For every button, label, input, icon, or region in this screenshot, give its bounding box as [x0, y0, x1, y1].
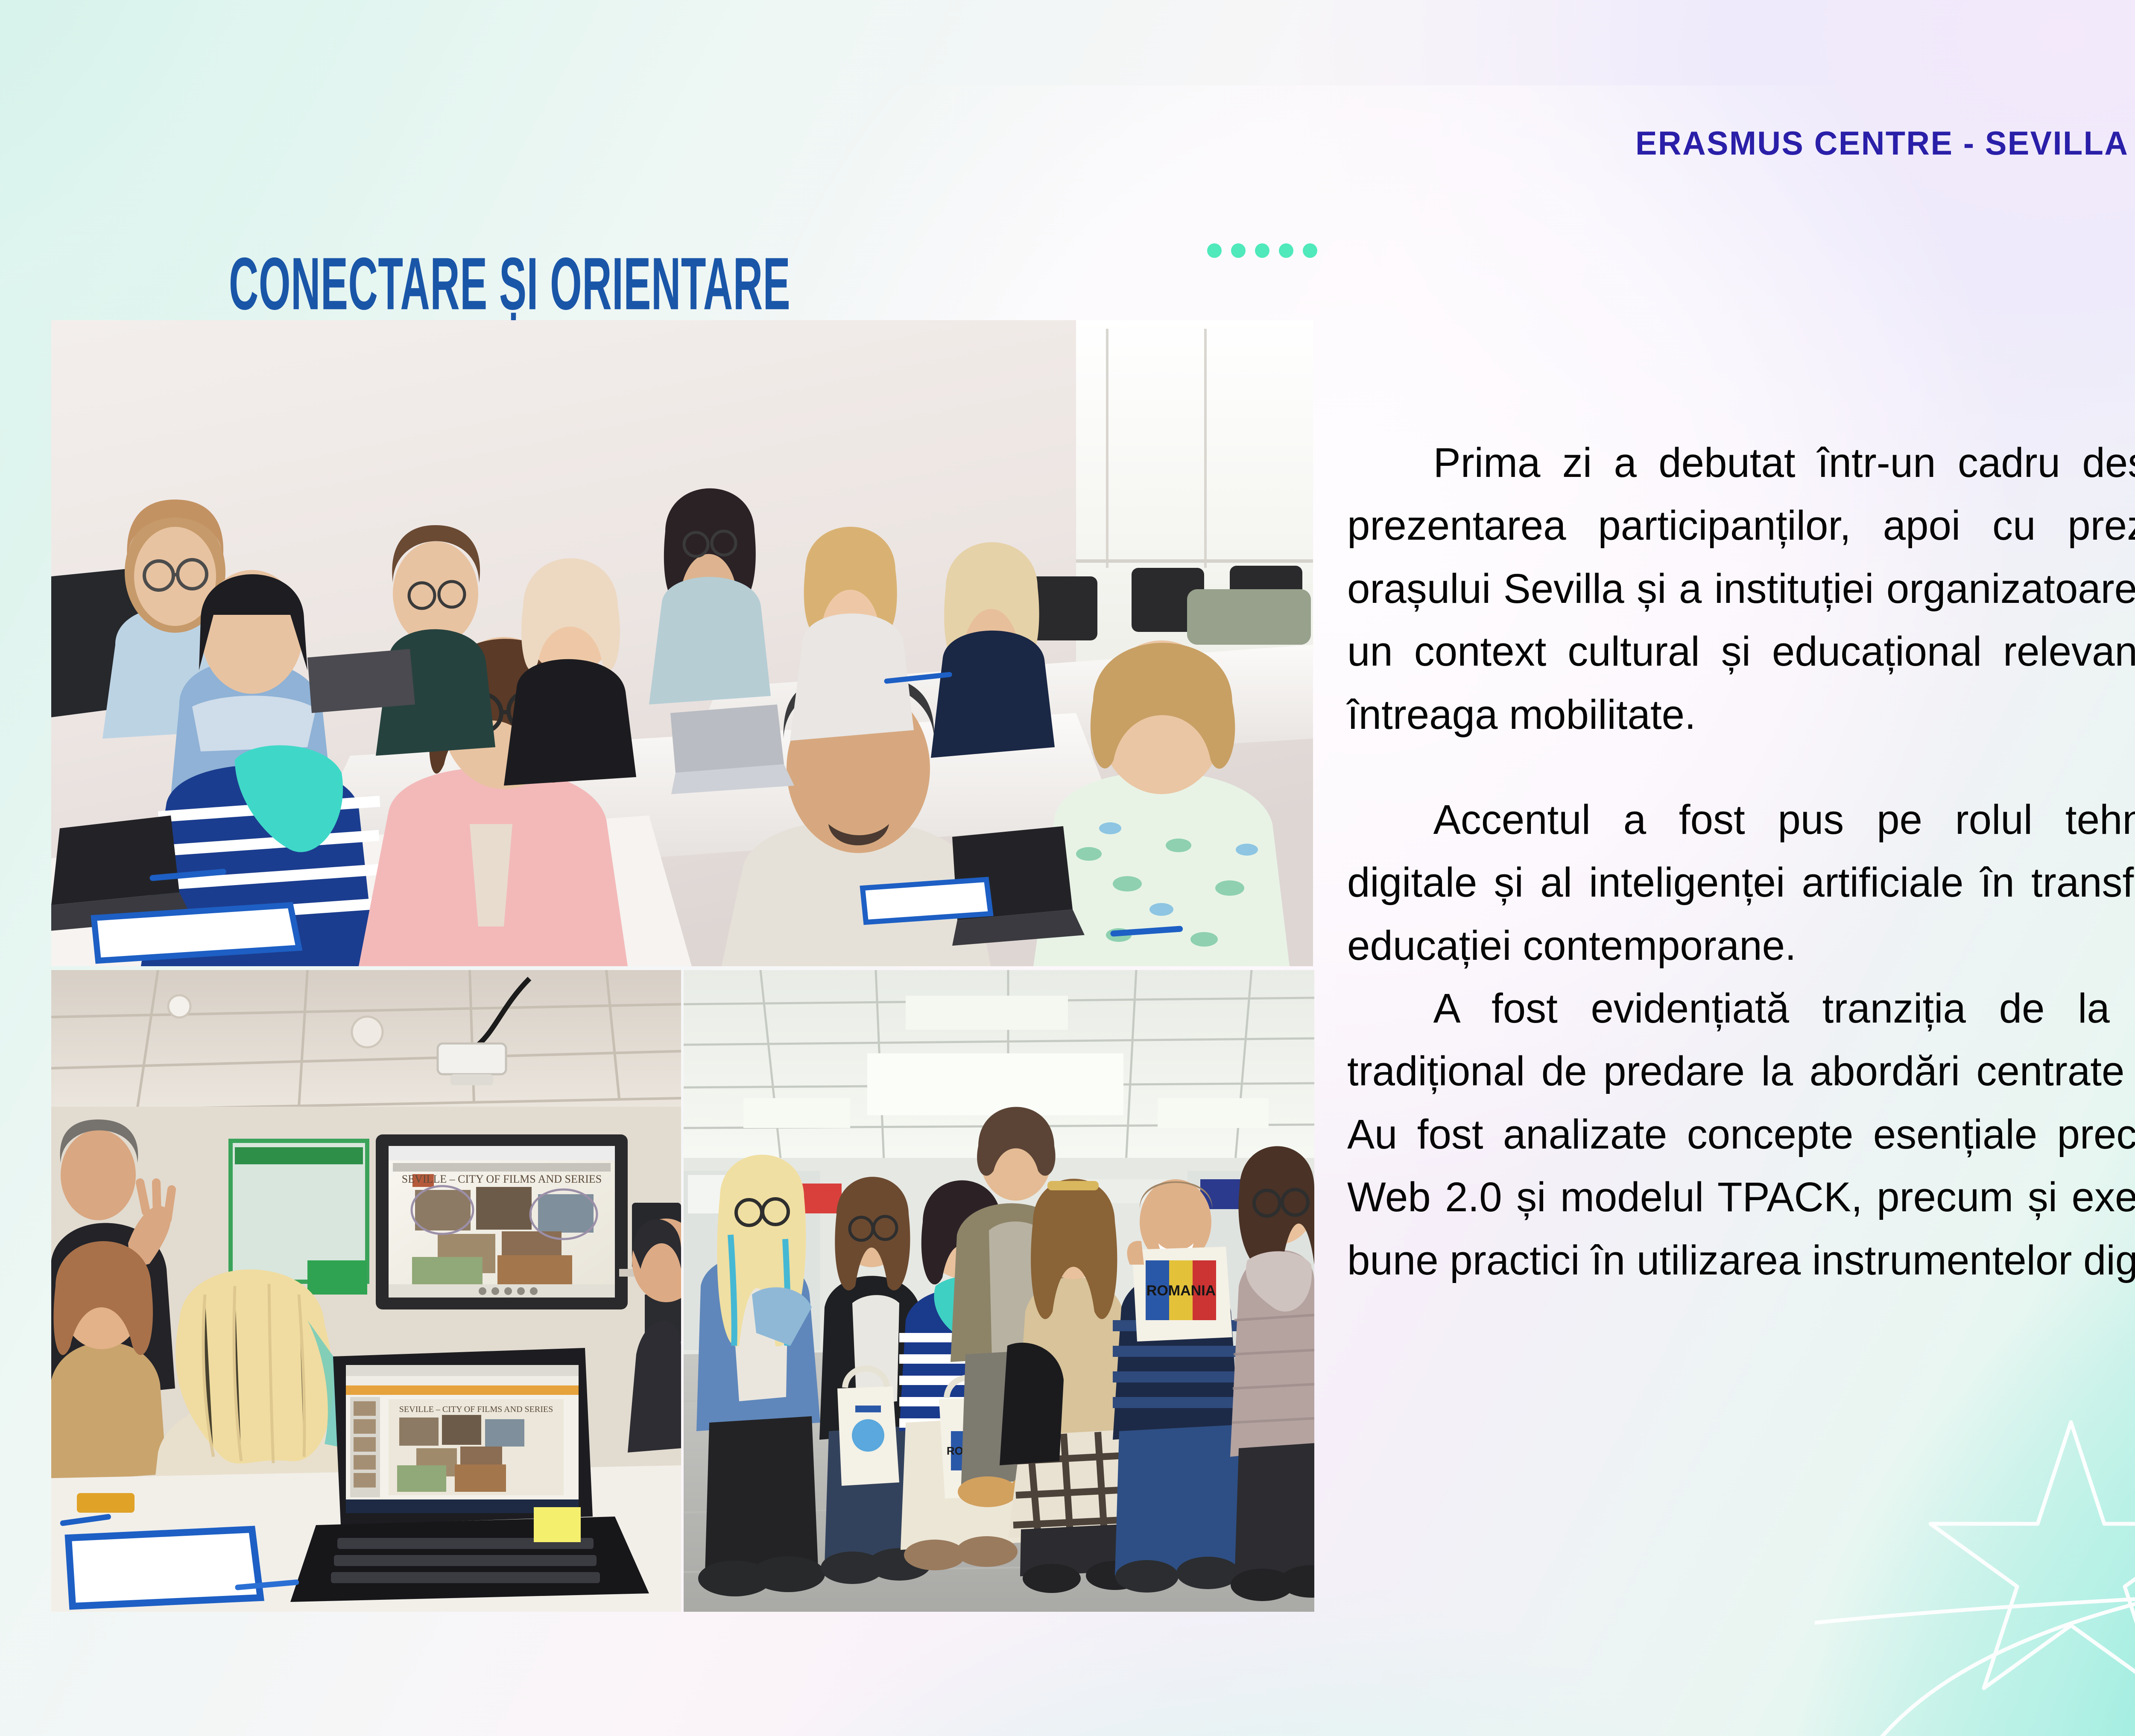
photo-presentation-screen: SEVILLE – CITY OF FILMS AND SERIES: [51, 970, 681, 1612]
paragraph-1: Prima zi a debutat într-un cadru deschis…: [1347, 431, 2135, 746]
accent-dot: [1231, 243, 1246, 258]
photo-group-lobby: ROMANIA: [684, 970, 1314, 1612]
accent-dot: [1279, 243, 1293, 258]
body-text-column: Prima zi a debutat într-un cadru deschis…: [1347, 431, 2135, 1292]
paragraph-3: A fost evidențiată tranziția de la model…: [1347, 977, 2135, 1292]
dot-accent-group: [1207, 243, 1317, 258]
svg-text:SEVILLE – CITY OF FILMS AND SE: SEVILLE – CITY OF FILMS AND SERIES: [399, 1405, 553, 1414]
svg-text:SEVILLE – CITY OF FILMS AND SE: SEVILLE – CITY OF FILMS AND SERIES: [402, 1173, 602, 1185]
svg-text:ROMANIA: ROMANIA: [1146, 1283, 1216, 1299]
erasmus-centre-header: ERASMUS CENTRE - SEVILLA: [1635, 124, 2129, 163]
page-title: CONECTARE ȘI ORIENTARE: [229, 247, 790, 321]
accent-dot: [1255, 243, 1269, 258]
photo-classroom-participants: [51, 320, 1313, 966]
accent-dot: [1207, 243, 1222, 258]
paragraph-gap: [1347, 768, 2135, 788]
paragraph-2: Accentul a fost pus pe rolul tehnologiil…: [1347, 788, 2135, 977]
accent-dot: [1303, 243, 1317, 258]
